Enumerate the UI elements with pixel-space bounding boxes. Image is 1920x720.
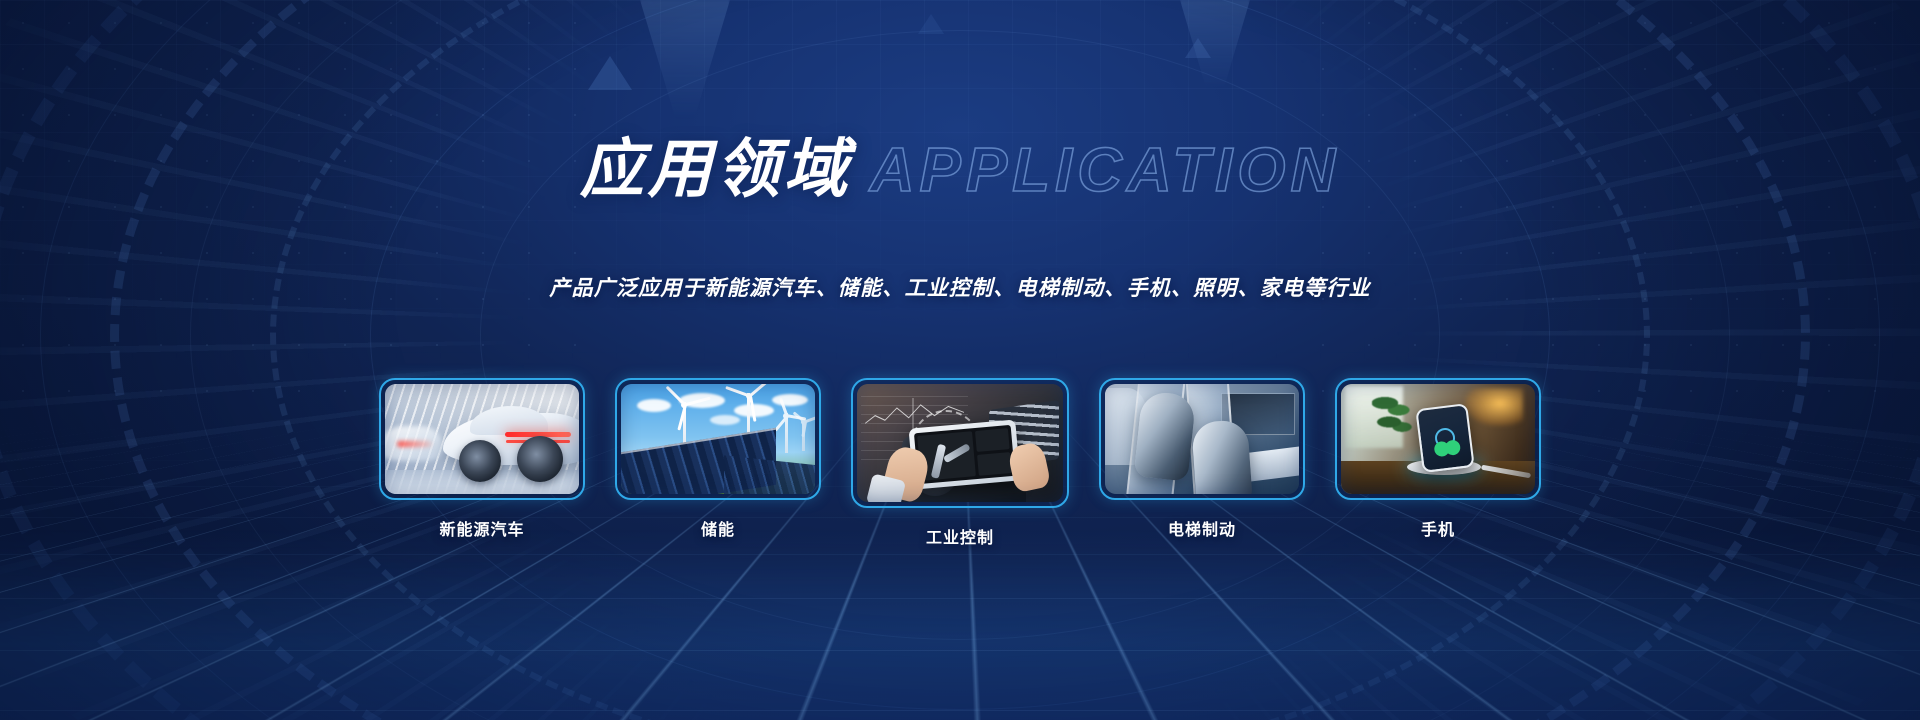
application-card-elevator-braking[interactable]: 电梯制动	[1099, 378, 1305, 540]
dot-grid-right	[1300, 0, 1920, 420]
triangle-marker-center	[918, 14, 944, 34]
dot-grid-left	[0, 0, 620, 420]
application-card-energy-storage[interactable]: 储能	[615, 378, 821, 540]
triangle-marker-left	[588, 56, 632, 90]
page-title: 应用领域	[580, 118, 852, 210]
glass-elevator-shafts-photo	[1105, 384, 1299, 494]
application-card-list: 新能源汽车	[0, 378, 1920, 548]
tablet-robotic-arm-control-photo	[857, 384, 1063, 502]
card-label: 电梯制动	[1099, 516, 1305, 540]
solar-panels-wind-turbines-photo	[621, 384, 815, 494]
card-frame	[1335, 378, 1541, 500]
application-card-mobile-phone[interactable]: 手机	[1335, 378, 1541, 540]
triangle-marker-right	[1185, 38, 1211, 58]
smartphone-wireless-charger-photo	[1341, 384, 1535, 494]
banner-subtitle: 产品广泛应用于新能源汽车、储能、工业控制、电梯制动、手机、照明、家电等行业	[0, 272, 1920, 302]
page-title-english: APPLICATION	[870, 135, 1341, 206]
application-card-industrial-control[interactable]: 工业控制	[851, 378, 1069, 548]
card-frame	[1099, 378, 1305, 500]
card-frame	[615, 378, 821, 500]
banner-heading: 应用领域 APPLICATION	[0, 118, 1920, 210]
application-banner: 应用领域 APPLICATION 产品广泛应用于新能源汽车、储能、工业控制、电梯…	[0, 0, 1920, 720]
card-frame	[851, 378, 1069, 508]
electric-sports-car-photo	[385, 384, 579, 494]
card-label: 手机	[1335, 516, 1541, 540]
card-label: 新能源汽车	[379, 516, 585, 540]
application-card-new-energy-vehicle[interactable]: 新能源汽车	[379, 378, 585, 540]
card-label: 储能	[615, 516, 821, 540]
card-frame	[379, 378, 585, 500]
card-label: 工业控制	[851, 524, 1069, 548]
